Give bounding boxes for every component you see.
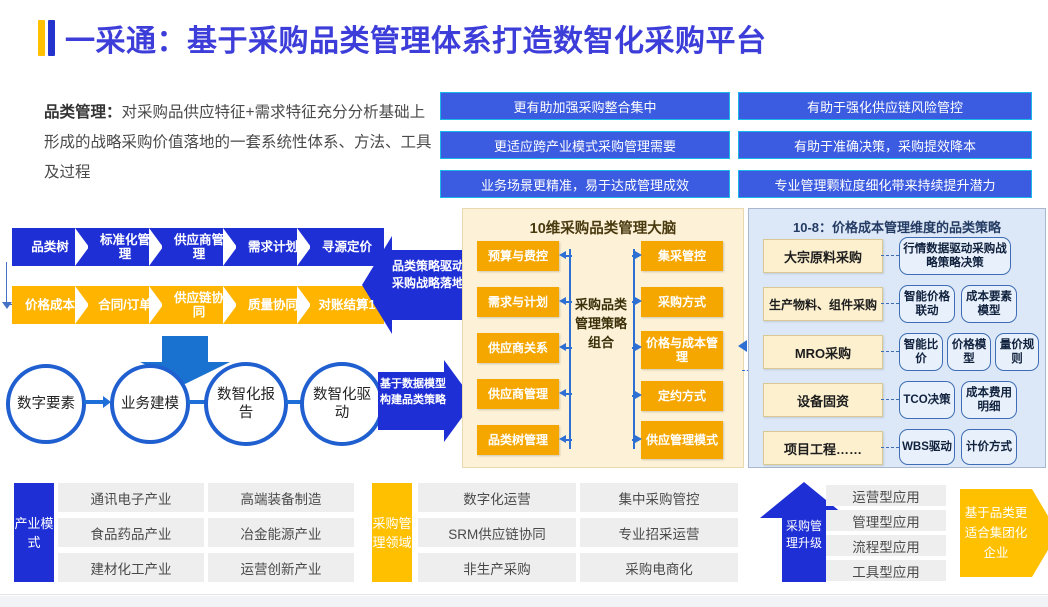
chevron-blue-1[interactable]: 品类树 — [12, 228, 88, 266]
chevron-blue-2-label: 标准化管理 — [94, 233, 156, 261]
brain-right-arrow-3-icon — [635, 343, 642, 351]
strategy-tag-4-2-label: 成本费用明细 — [962, 386, 1016, 414]
benefit-right-3[interactable]: 专业管理颗粒度细化带来持续提升潜力 — [738, 170, 1032, 198]
strategy-tag-4-2[interactable]: 成本费用明细 — [961, 381, 1017, 419]
title-accent-bars — [38, 18, 55, 58]
accent-bar-yellow — [38, 20, 45, 56]
strategy-tag-1-1-label: 行情数据驱动采购战略策略决策 — [900, 242, 1010, 270]
chevron-gold-2-label: 合同/订单 — [98, 298, 151, 312]
strategy-tag-3-3[interactable]: 量价规则 — [995, 333, 1039, 371]
industry-mode-label: 产业模式 — [14, 483, 54, 582]
brain-left-lead-4 — [566, 393, 572, 395]
industry-cell-3-1[interactable]: 建材化工产业 — [58, 553, 204, 582]
domain-cell-2-2[interactable]: 专业招采运营 — [580, 518, 738, 547]
circle-step-3-label: 数智化报告 — [208, 386, 284, 422]
strategy-tag-4-1-label: TCO决策 — [903, 393, 950, 407]
brain-left-3-label: 供应商关系 — [488, 341, 548, 355]
brain-left-3[interactable]: 供应商关系 — [477, 333, 559, 363]
strategy-tag-3-1[interactable]: 智能比价 — [899, 333, 943, 371]
strategy-category-3-label: MRO采购 — [795, 343, 851, 362]
conclusion-label: 基于品类更适合集团化企业 — [960, 503, 1032, 563]
brain-left-5[interactable]: 品类树管理 — [477, 425, 559, 455]
benefit-left-1[interactable]: 更有助加强采购整合集中 — [440, 92, 730, 120]
brain-right-arrow-4-icon — [635, 391, 642, 399]
strategy-dash-2 — [881, 303, 899, 304]
chevron-blue-5-label: 寻源定价 — [322, 240, 372, 254]
circle-step-1[interactable]: 数字要素 — [6, 364, 86, 444]
brain-left-lead-5 — [566, 439, 572, 441]
strategy-tag-5-1[interactable]: WBS驱动 — [899, 429, 955, 465]
arrow-right-model: 基于数据模型构建品类策略 — [378, 360, 474, 442]
strategy-tag-3-2-label: 价格模型 — [948, 338, 990, 366]
strategy-tag-2-2[interactable]: 成本要素模型 — [961, 285, 1017, 323]
brain-center-label: 采购品类管理策略组合 — [573, 295, 629, 352]
brain-right-3-label: 价格与成本管理 — [641, 336, 723, 364]
footer-bar — [0, 596, 1048, 607]
benefit-right-2[interactable]: 有助于准确决策，采购提效降本 — [738, 131, 1032, 159]
chevron-blue-3[interactable]: 供应商管理 — [162, 228, 236, 266]
industry-cell-3-2[interactable]: 运营创新产业 — [208, 553, 354, 582]
process-row-blue: 品类树 标准化管理 供应商管理 需求计划 寻源定价 — [12, 228, 384, 266]
industry-cell-1-1[interactable]: 通讯电子产业 — [58, 483, 204, 512]
strategy-category-1[interactable]: 大宗原料采购 — [763, 239, 883, 273]
brain-left-arrow-4-icon — [559, 389, 566, 397]
circle-step-4-label: 数智化驱动 — [304, 386, 380, 422]
strategy-tag-3-1-label: 智能比价 — [900, 338, 942, 366]
strategy-tag-2-1-label: 智能价格联动 — [900, 290, 954, 318]
strategy-category-4[interactable]: 设备固资 — [763, 383, 883, 417]
strategy-panel: 10-8：价格成本管理维度的品类策略 大宗原料采购 行情数据驱动采购战略策略决策… — [748, 208, 1046, 468]
conclusion-chevron: 基于品类更适合集团化企业 — [960, 489, 1032, 577]
arrow-left-strategy: 品类策略驱动采购战略落地 — [362, 236, 464, 334]
upgrade-cell-3[interactable]: 流程型应用 — [826, 535, 946, 556]
strategy-tag-2-2-label: 成本要素模型 — [962, 290, 1016, 318]
chevron-gold-1-label: 价格成本 — [25, 298, 75, 312]
circle-connector-1 — [84, 400, 104, 404]
strategy-category-5[interactable]: 项目工程…… — [763, 431, 883, 465]
strategy-dash-5 — [881, 447, 899, 448]
lead-label: 品类管理： — [44, 104, 122, 121]
brain-right-1[interactable]: 集采管控 — [641, 241, 723, 271]
strategy-tag-5-1-label: WBS驱动 — [902, 440, 952, 454]
circle-step-4[interactable]: 数智化驱动 — [300, 362, 384, 446]
upgrade-cell-1[interactable]: 运营型应用 — [826, 485, 946, 506]
brain-title: 10维采购品类管理大脑 — [463, 217, 743, 238]
chevron-blue-4-label: 需求计划 — [248, 240, 298, 254]
circle-step-1-label: 数字要素 — [13, 395, 79, 413]
brain-right-arrow-2-icon — [635, 297, 642, 305]
arrow-right-label: 基于数据模型构建品类策略 — [378, 376, 448, 408]
arrow-left-label: 品类策略驱动采购战略落地 — [392, 258, 464, 292]
brain-right-1-label: 集采管控 — [658, 249, 706, 263]
arrow-down-shaft — [162, 336, 208, 362]
process-row-gold: 价格成本 合同/订单 供应链协同 质量协同 对账结算1 — [12, 286, 384, 324]
strategy-tag-4-1[interactable]: TCO决策 — [899, 381, 955, 419]
brain-right-3[interactable]: 价格与成本管理 — [641, 331, 723, 369]
brain-left-2-label: 需求与计划 — [488, 295, 548, 309]
footer-divider — [0, 594, 1048, 595]
brain-right-2[interactable]: 采购方式 — [641, 287, 723, 317]
chevron-gold-4-label: 质量协同 — [248, 298, 298, 312]
strategy-dash-1 — [881, 255, 899, 256]
chevron-gold-5-label: 对账结算1 — [319, 298, 376, 312]
industry-cell-2-2[interactable]: 冶金能源产业 — [208, 518, 354, 547]
domain-cell-3-1[interactable]: 非生产采购 — [418, 553, 576, 582]
brain-left-lead-1 — [566, 255, 572, 257]
strategy-title: 10-8：价格成本管理维度的品类策略 — [749, 217, 1045, 236]
brain-right-arrow-1-icon — [635, 251, 642, 259]
strategy-category-3[interactable]: MRO采购 — [763, 335, 883, 369]
page-title: 一采通：基于采购品类管理体系打造数智化采购平台 — [38, 16, 767, 60]
domain-cell-1-1[interactable]: 数字化运营 — [418, 483, 576, 512]
conclusion-chevron-tip-icon — [1032, 489, 1048, 577]
chevron-blue-2[interactable]: 标准化管理 — [88, 228, 162, 266]
procurement-domain-label: 采购管理领域 — [372, 483, 412, 582]
benefit-left-2[interactable]: 更适应跨产业模式采购管理需要 — [440, 131, 730, 159]
brain-left-4-label: 供应商管理 — [488, 387, 548, 401]
circle-step-3[interactable]: 数智化报告 — [204, 362, 288, 446]
brain-left-lead-3 — [566, 347, 572, 349]
accent-bar-blue — [48, 20, 55, 56]
chevron-gold-3[interactable]: 供应链协同 — [162, 286, 236, 324]
brain-left-arrow-1-icon — [559, 251, 566, 259]
strategy-tag-5-2-label: 计价方式 — [966, 440, 1012, 454]
chevron-gold-1[interactable]: 价格成本 — [12, 286, 88, 324]
strategy-inbound-arrow-icon — [738, 340, 747, 352]
benefit-right-1[interactable]: 有助于强化供应链风险管控 — [738, 92, 1032, 120]
brain-left-arrow-3-icon — [559, 343, 566, 351]
brain-left-arrow-2-icon — [559, 297, 566, 305]
chevron-gold-3-label: 供应链协同 — [168, 291, 230, 319]
brain-right-5-label: 供应管理模式 — [646, 433, 718, 447]
strategy-dash-3 — [881, 351, 899, 352]
brain-panel: 10维采购品类管理大脑 采购品类管理策略组合 预算与费控 需求与计划 供应商关系… — [462, 208, 744, 468]
brain-right-2-label: 采购方式 — [658, 295, 706, 309]
strategy-category-1-label: 大宗原料采购 — [784, 247, 862, 266]
brain-left-1[interactable]: 预算与费控 — [477, 241, 559, 271]
slide-canvas: 一采通：基于采购品类管理体系打造数智化采购平台 品类管理：对采购品供应特征+需求… — [0, 0, 1048, 607]
strategy-tag-5-2[interactable]: 计价方式 — [961, 429, 1017, 465]
upgrade-cell-2[interactable]: 管理型应用 — [826, 510, 946, 531]
brain-right-4[interactable]: 定约方式 — [641, 381, 723, 411]
brain-left-5-label: 品类树管理 — [488, 433, 548, 447]
domain-cell-3-2[interactable]: 采购电商化 — [580, 553, 738, 582]
title-text: 一采通：基于采购品类管理体系打造数智化采购平台 — [65, 16, 767, 60]
strategy-tag-2-1[interactable]: 智能价格联动 — [899, 285, 955, 323]
chevron-blue-1-label: 品类树 — [31, 240, 69, 254]
strategy-tag-1-1[interactable]: 行情数据驱动采购战略策略决策 — [899, 237, 1011, 275]
brain-left-2[interactable]: 需求与计划 — [477, 287, 559, 317]
brain-spine-left — [569, 249, 571, 449]
brain-right-4-label: 定约方式 — [658, 389, 706, 403]
circle-step-2[interactable]: 业务建模 — [110, 364, 190, 444]
strategy-tag-3-2[interactable]: 价格模型 — [947, 333, 991, 371]
strategy-category-4-label: 设备固资 — [797, 391, 849, 410]
chevron-blue-3-label: 供应商管理 — [168, 233, 230, 261]
brain-left-1-label: 预算与费控 — [488, 249, 548, 263]
upgrade-cell-4[interactable]: 工具型应用 — [826, 560, 946, 581]
domain-cell-2-1[interactable]: SRM供应链协同 — [418, 518, 576, 547]
brain-left-lead-2 — [566, 301, 572, 303]
strategy-category-2[interactable]: 生产物料、组件采购 — [763, 287, 883, 321]
strategy-dash-4 — [881, 399, 899, 400]
upgrade-arrow-label: 采购管理升级 — [782, 518, 826, 552]
strategy-category-5-label: 项目工程…… — [784, 439, 862, 458]
brain-left-4[interactable]: 供应商管理 — [477, 379, 559, 409]
lead-paragraph: 品类管理：对采购品供应特征+需求特征充分分析基础上形成的战略采购价值落地的一套系… — [44, 98, 432, 188]
strategy-tag-3-3-label: 量价规则 — [996, 338, 1038, 366]
industry-cell-2-1[interactable]: 食品药品产业 — [58, 518, 204, 547]
benefit-left-3[interactable]: 业务场景更精准，易于达成管理成效 — [440, 170, 730, 198]
brain-right-5[interactable]: 供应管理模式 — [641, 421, 723, 459]
industry-cell-1-2[interactable]: 高端装备制造 — [208, 483, 354, 512]
domain-cell-1-2[interactable]: 集中采购管控 — [580, 483, 738, 512]
strategy-category-2-label: 生产物料、组件采购 — [769, 296, 877, 313]
circle-step-2-label: 业务建模 — [117, 395, 183, 413]
brain-left-arrow-5-icon — [559, 435, 566, 443]
brain-right-arrow-5-icon — [635, 435, 642, 443]
